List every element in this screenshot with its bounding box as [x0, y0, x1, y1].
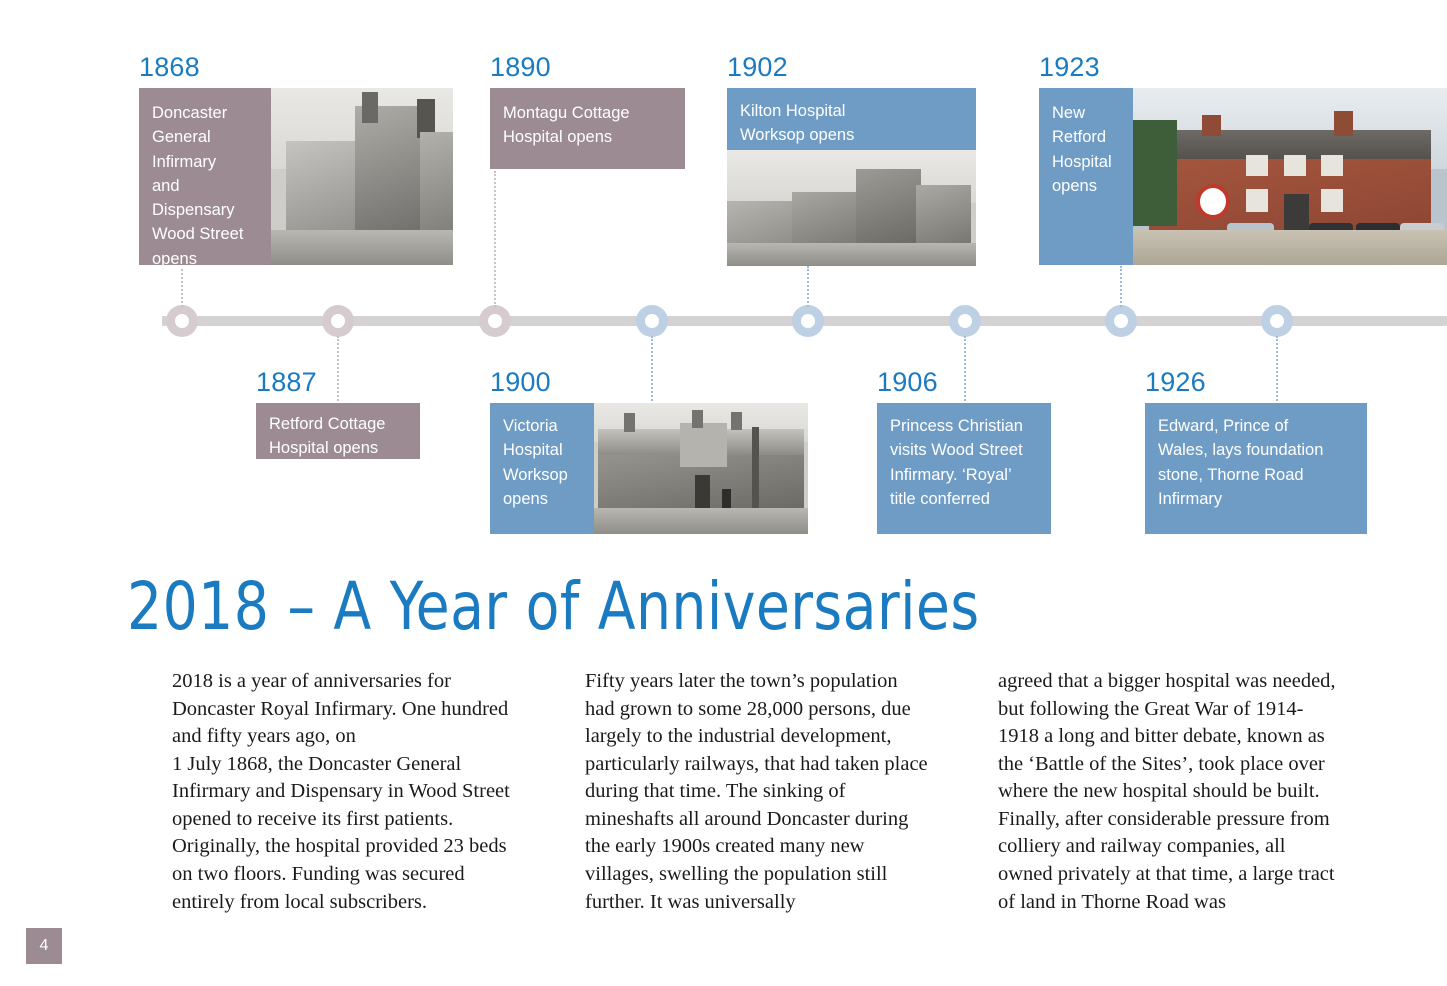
timeline-year-label: 1906 — [877, 369, 1051, 396]
dot-hole — [175, 314, 189, 328]
photo-chimney — [1334, 111, 1353, 136]
timeline-dot-1868[interactable] — [166, 305, 198, 337]
timeline-dot-1906[interactable] — [949, 305, 981, 337]
dot-hole — [1114, 314, 1128, 328]
doncaster-general-infirmary-wood-street-photo — [271, 88, 453, 265]
photo-building — [362, 92, 378, 124]
photo-building — [856, 169, 921, 253]
dot-hole — [958, 314, 972, 328]
photo-window — [1321, 189, 1343, 212]
photo-window — [1246, 189, 1268, 212]
timeline-year-label: 1887 — [256, 369, 420, 396]
photo-window — [1246, 155, 1268, 176]
new-retford-hospital-photo — [1133, 88, 1447, 265]
photo-building — [286, 141, 362, 244]
photo-chimney — [1202, 115, 1221, 136]
timeline-year-label: 1890 — [490, 54, 685, 81]
connector-1923 — [1120, 266, 1122, 307]
timeline-card-1906[interactable]: 1906 Princess Christian visits Wood Stre… — [877, 369, 1051, 534]
timeline-year-label: 1902 — [727, 54, 976, 81]
connector-1868 — [181, 269, 183, 307]
victoria-hospital-worksop-photo — [594, 403, 808, 534]
speed-limit-sign-icon — [1196, 184, 1231, 219]
photo-tree — [752, 427, 758, 511]
timeline-year-label: 1926 — [1145, 369, 1367, 396]
article-body: 2018 is a year of anniversaries for Donc… — [172, 668, 1402, 916]
timeline-dot-1926[interactable] — [1261, 305, 1293, 337]
timeline-dot-1900[interactable] — [636, 305, 668, 337]
kilton-hospital-worksop-photo — [727, 150, 976, 266]
photo-building — [355, 106, 424, 244]
timeline-year-label: 1868 — [139, 54, 453, 81]
connector-1890 — [494, 171, 496, 307]
timeline-section: 1868 Doncaster General Infirmary and Dis… — [0, 0, 1447, 550]
photo-door — [695, 475, 710, 512]
timeline-card-1890[interactable]: 1890 Montagu Cottage Hospital opens — [490, 54, 685, 169]
photo-tree — [1133, 120, 1177, 226]
timeline-dot-1902[interactable] — [792, 305, 824, 337]
timeline-card-1923[interactable]: 1923 New Retford Hospital opens — [1039, 54, 1447, 265]
timeline-card-1900[interactable]: 1900 Victoria Hospital Worksop opens — [490, 369, 808, 534]
photo-ground — [594, 508, 808, 534]
timeline-card-text: Retford Cottage Hospital opens — [256, 403, 420, 459]
timeline-card-text: Doncaster General Infirmary and Dispensa… — [139, 88, 271, 265]
timeline-year-label: 1923 — [1039, 54, 1447, 81]
timeline-card-text: Victoria Hospital Worksop opens — [490, 403, 594, 534]
photo-window — [1321, 155, 1343, 176]
dot-hole — [488, 314, 502, 328]
body-column-3: agreed that a bigger hospital was needed… — [998, 668, 1343, 916]
timeline-card-1868[interactable]: 1868 Doncaster General Infirmary and Dis… — [139, 54, 453, 265]
photo-building — [420, 132, 453, 244]
photo-chimney — [731, 412, 742, 430]
dot-hole — [801, 314, 815, 328]
body-column-1: 2018 is a year of anniversaries for Donc… — [172, 668, 517, 916]
timeline-card-text: Edward, Prince of Wales, lays foundation… — [1145, 403, 1367, 534]
dot-hole — [331, 314, 345, 328]
timeline-card-1902[interactable]: 1902 Kilton Hospital Worksop opens — [727, 54, 976, 266]
dot-hole — [1270, 314, 1284, 328]
timeline-card-text: Princess Christian visits Wood Street In… — [877, 403, 1051, 534]
timeline-card-1887[interactable]: 1887 Retford Cottage Hospital opens — [256, 369, 420, 459]
timeline-year-label: 1900 — [490, 369, 808, 396]
connector-1902 — [807, 266, 809, 307]
photo-ground — [1133, 230, 1447, 265]
timeline-dot-1887[interactable] — [322, 305, 354, 337]
body-column-2: Fifty years later the town’s population … — [585, 668, 930, 916]
timeline-card-text: New Retford Hospital opens — [1039, 88, 1133, 265]
photo-ground — [727, 243, 976, 266]
photo-window — [1284, 155, 1306, 176]
timeline-dot-1923[interactable] — [1105, 305, 1137, 337]
page-number-badge: 4 — [26, 928, 62, 964]
photo-chimney — [692, 410, 703, 428]
photo-chimney — [624, 413, 635, 431]
page-title: 2018 – A Year of Anniversaries — [127, 571, 980, 644]
timeline-card-1926[interactable]: 1926 Edward, Prince of Wales, lays found… — [1145, 369, 1367, 534]
dot-hole — [645, 314, 659, 328]
photo-gable — [680, 423, 727, 468]
timeline-dot-1890[interactable] — [479, 305, 511, 337]
photo-ground — [271, 230, 453, 265]
timeline-card-text: Kilton Hospital Worksop opens — [727, 88, 976, 150]
timeline-card-text: Montagu Cottage Hospital opens — [490, 88, 685, 169]
